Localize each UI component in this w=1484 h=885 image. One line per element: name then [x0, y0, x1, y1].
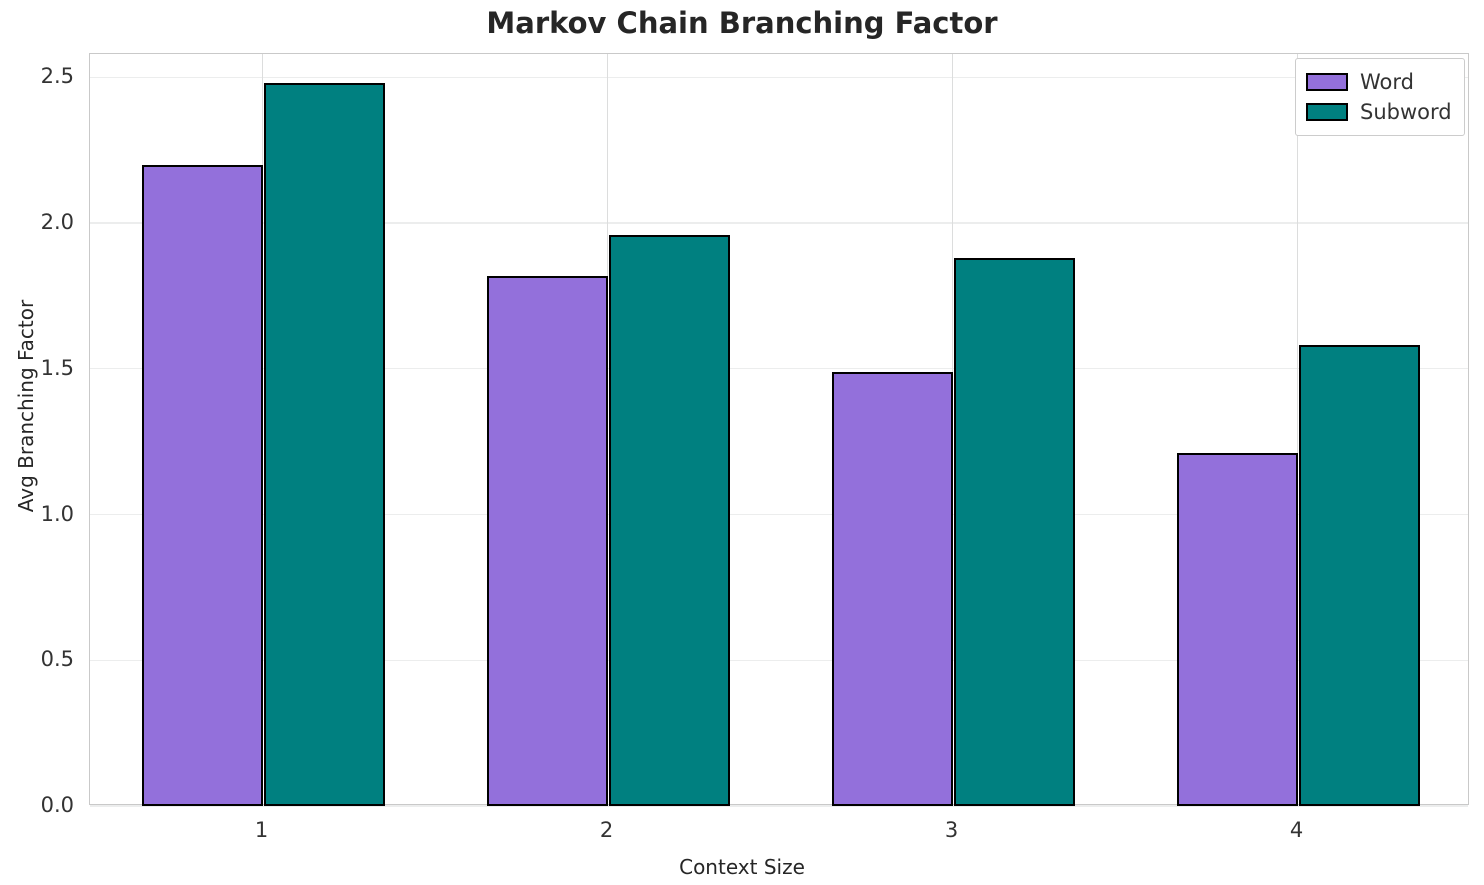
- bar-subword-1[interactable]: [264, 83, 385, 806]
- x-tick-label: 3: [892, 818, 1012, 842]
- bar-word-2[interactable]: [487, 276, 608, 806]
- legend-swatch-icon: [1306, 103, 1348, 121]
- legend-item-subword[interactable]: Subword: [1306, 97, 1452, 127]
- x-tick-label: 1: [202, 818, 322, 842]
- gridline-horizontal: [90, 77, 1468, 78]
- plot-inner: [90, 54, 1468, 804]
- legend-label: Subword: [1360, 100, 1452, 124]
- y-tick-label: 0.0: [4, 793, 74, 817]
- bar-word-4[interactable]: [1177, 453, 1298, 806]
- bar-subword-3[interactable]: [954, 258, 1075, 806]
- chart-legend: WordSubword: [1295, 58, 1465, 136]
- bar-subword-4[interactable]: [1299, 345, 1420, 806]
- bar-word-3[interactable]: [832, 372, 953, 806]
- legend-item-word[interactable]: Word: [1306, 67, 1452, 97]
- y-tick-label: 2.5: [4, 64, 74, 88]
- y-axis-label: Avg Branching Factor: [14, 106, 38, 706]
- chart-title: Markov Chain Branching Factor: [0, 6, 1484, 40]
- bar-subword-2[interactable]: [609, 235, 730, 806]
- x-tick-label: 2: [547, 818, 667, 842]
- figure-canvas: Markov Chain Branching Factor 0.00.51.01…: [0, 0, 1484, 885]
- legend-label: Word: [1360, 70, 1414, 94]
- x-tick-label: 4: [1237, 818, 1357, 842]
- x-axis-label: Context Size: [0, 855, 1484, 879]
- plot-area: [89, 53, 1469, 805]
- bar-word-1[interactable]: [142, 165, 263, 806]
- legend-swatch-icon: [1306, 73, 1348, 91]
